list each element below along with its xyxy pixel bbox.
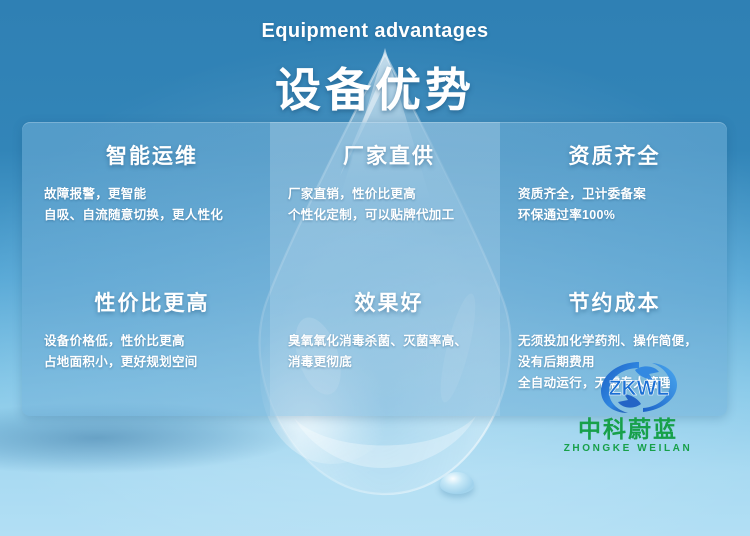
advantage-lines: 资质齐全，卫计委备案 环保通过率100%: [518, 184, 717, 226]
advantage-line: 臭氧氧化消毒杀菌、灭菌率高、: [288, 331, 490, 352]
advantage-line: 设备价格低，性价比更高: [44, 331, 260, 352]
advantage-title: 智能运维: [44, 140, 260, 170]
advantage-lines: 设备价格低，性价比更高 占地面积小，更好规划空间: [44, 331, 260, 373]
advantage-line: 环保通过率100%: [518, 205, 717, 226]
advantage-title: 资质齐全: [518, 140, 717, 170]
advantage-lines: 故障报警，更智能 自吸、自流随意切换，更人性化: [44, 184, 260, 226]
advantage-title: 效果好: [288, 287, 490, 317]
advantage-cell-better-value: 性价比更高 设备价格低，性价比更高 占地面积小，更好规划空间: [22, 269, 270, 416]
advantage-cell-factory-direct: 厂家直供 厂家直销，性价比更高 个性化定制，可以贴牌代加工: [270, 122, 500, 269]
advantage-line: 故障报警，更智能: [44, 184, 260, 205]
brand-name-chinese: 中科蔚蓝: [548, 416, 708, 442]
advantages-panel: 智能运维 故障报警，更智能 自吸、自流随意切换，更人性化 厂家直供 厂家直销，性…: [22, 122, 727, 416]
brand-lockup: 中科蔚蓝 ZHONGKE WEILAN: [548, 416, 708, 455]
page-subtitle-english: Equipment advantages: [0, 20, 750, 43]
advantage-cell-good-effect: 效果好 臭氧氧化消毒杀菌、灭菌率高、 消毒更彻底: [270, 269, 500, 416]
advantage-line: 无须投加化学药剂、操作简便，: [518, 331, 717, 352]
advantage-line: 自吸、自流随意切换，更人性化: [44, 205, 260, 226]
small-water-droplet-icon: [440, 472, 474, 494]
advantage-cell-full-qualification: 资质齐全 资质齐全，卫计委备案 环保通过率100%: [500, 122, 727, 269]
page-title: 设备优势: [0, 54, 750, 120]
brand-name-pinyin: ZHONGKE WEILAN: [548, 442, 708, 455]
advantage-title: 性价比更高: [44, 287, 260, 317]
advantage-line: 全自动运行，无需专人管理: [518, 373, 717, 394]
advantage-title: 厂家直供: [288, 140, 490, 170]
advantage-line: 厂家直销，性价比更高: [288, 184, 490, 205]
advantage-lines: 无须投加化学药剂、操作简便， 没有后期费用 全自动运行，无需专人管理: [518, 331, 717, 394]
advantage-cell-smart-ops: 智能运维 故障报警，更智能 自吸、自流随意切换，更人性化: [22, 122, 270, 269]
advantage-title: 节约成本: [518, 287, 717, 317]
advantage-line: 个性化定制，可以贴牌代加工: [288, 205, 490, 226]
advantage-line: 资质齐全，卫计委备案: [518, 184, 717, 205]
advantage-lines: 厂家直销，性价比更高 个性化定制，可以贴牌代加工: [288, 184, 490, 226]
advantage-line: 没有后期费用: [518, 352, 717, 373]
advantages-grid: 智能运维 故障报警，更智能 自吸、自流随意切换，更人性化 厂家直供 厂家直销，性…: [22, 122, 727, 416]
advantage-line: 占地面积小，更好规划空间: [44, 352, 260, 373]
advantage-line: 消毒更彻底: [288, 352, 490, 373]
advantage-cell-save-cost: 节约成本 无须投加化学药剂、操作简便， 没有后期费用 全自动运行，无需专人管理: [500, 269, 727, 416]
poster-canvas: Equipment advantages 设备优势 智能运维 故障报警，更智能 …: [0, 0, 750, 536]
advantage-lines: 臭氧氧化消毒杀菌、灭菌率高、 消毒更彻底: [288, 331, 490, 373]
